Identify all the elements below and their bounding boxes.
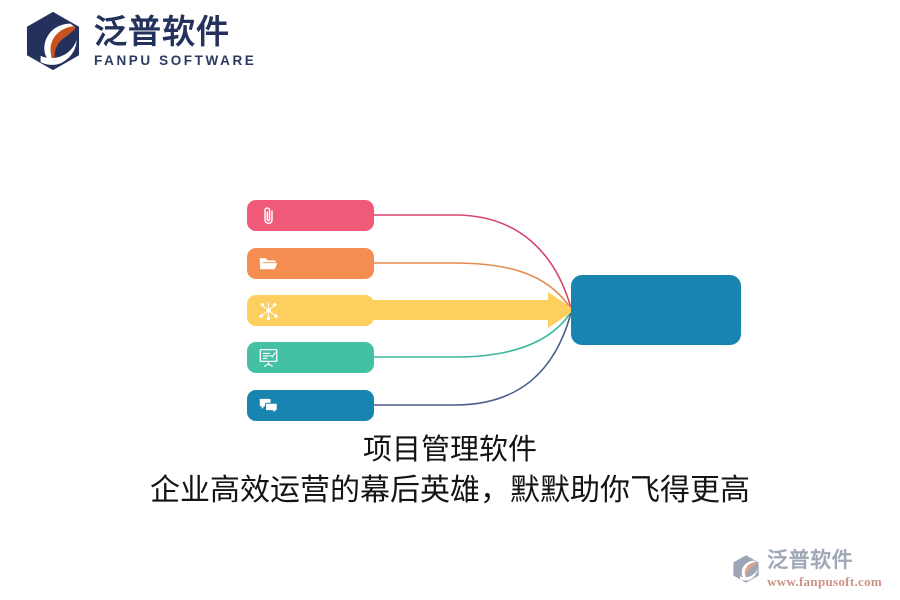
target-node[interactable] [571,275,741,345]
source-chip-presentation[interactable] [247,342,374,373]
watermark-text: 泛普软件 www.fanpusoft.com [767,550,882,588]
watermark: 泛普软件 www.fanpusoft.com [731,550,882,588]
watermark-url: www.fanpusoft.com [767,575,882,588]
page-title: 项目管理软件 [0,430,900,468]
presentation-board-icon [258,347,279,368]
caption-block: 项目管理软件 企业高效运营的幕后英雄，默默助你飞得更高 [0,430,900,512]
source-chip-network[interactable] [247,295,374,326]
page-subtitle: 企业高效运营的幕后英雄，默默助你飞得更高 [0,470,900,512]
folder-icon [258,253,279,274]
chat-bubbles-icon [258,395,279,416]
network-hub-icon [258,300,279,321]
watermark-name: 泛普软件 [767,550,882,571]
fanpu-hexagon-watermark-icon [731,554,761,584]
source-chip-folder[interactable] [247,248,374,279]
source-chip-chat[interactable] [247,390,374,421]
paperclip-icon [258,205,279,226]
source-chip-paperclip[interactable] [247,200,374,231]
